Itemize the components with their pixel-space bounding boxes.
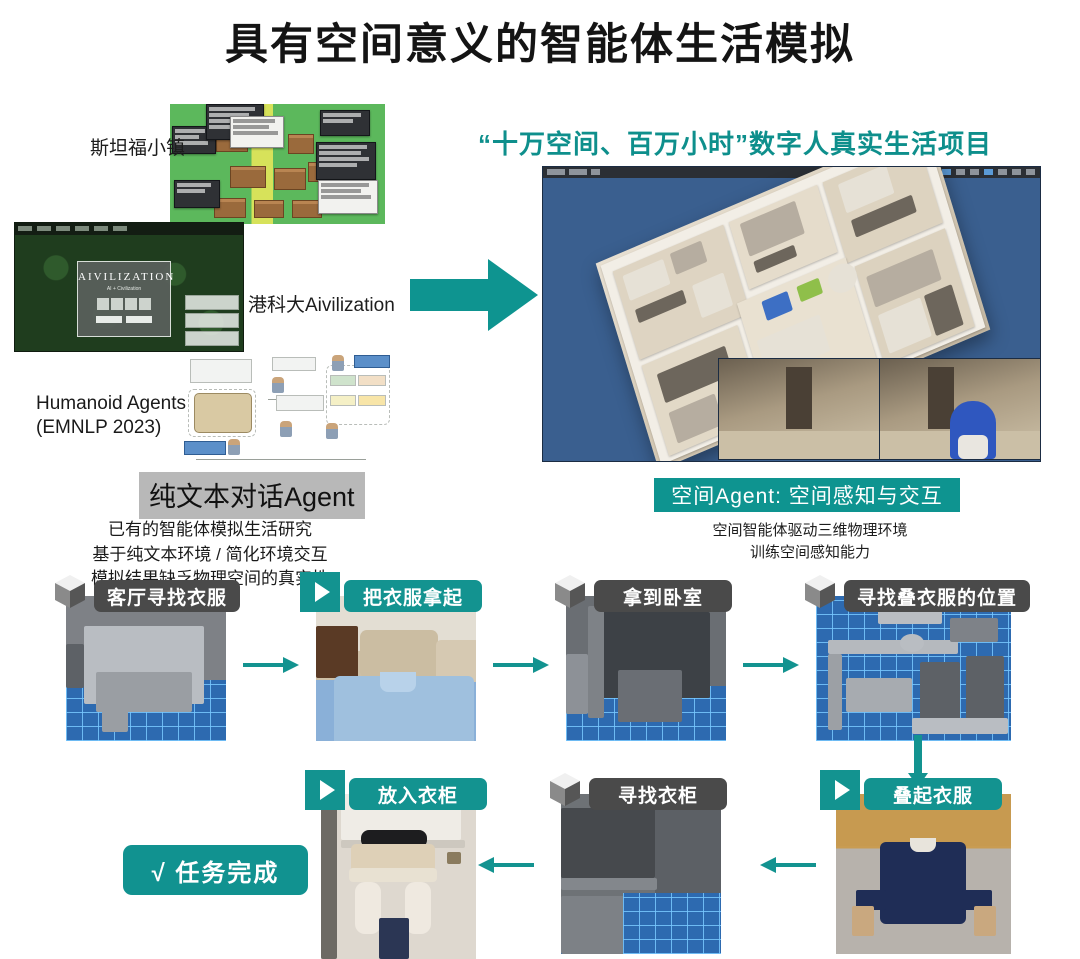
flow-step-3-label: 拿到卧室 — [594, 580, 732, 612]
aivilization-subtitle: AI + Civilization — [78, 286, 170, 292]
transition-arrow-icon — [410, 255, 540, 335]
viewer-caption-line2: 训练空间感知能力 — [600, 542, 1020, 564]
fpv-panel-right — [879, 358, 1041, 460]
flow-step-7-thumbnail — [321, 794, 476, 959]
simulator-viewer-screenshot — [542, 166, 1041, 462]
flow-step-6[interactable]: 寻找衣柜 — [545, 778, 745, 943]
play-icon — [305, 770, 345, 810]
stanford-town-thumbnail — [170, 104, 385, 224]
cube-icon — [545, 770, 585, 810]
flow-step-6-label: 寻找衣柜 — [589, 778, 727, 810]
aivilization-label: 港科大Aivilization — [248, 290, 395, 317]
flow-arrow-2-3-icon — [493, 655, 549, 680]
aivilization-brand: AIVILIZATION — [78, 271, 170, 283]
stanford-town-label: 斯坦福小镇 — [90, 133, 185, 160]
flow-step-1-thumbnail — [66, 596, 226, 741]
viewer-caption: 空间智能体驱动三维物理环境 训练空间感知能力 — [600, 520, 1020, 564]
aivilization-topbar — [15, 223, 243, 235]
flow-step-4-label: 寻找叠衣服的位置 — [844, 580, 1030, 612]
flow-step-5-label: 叠起衣服 — [864, 778, 1002, 810]
flow-step-4-thumbnail — [816, 596, 1011, 741]
flow-step-5-thumbnail — [836, 794, 1011, 954]
cube-icon — [800, 572, 840, 612]
aivilization-thumbnail: AIVILIZATION AI + Civilization — [14, 222, 244, 352]
flow-step-5[interactable]: 叠起衣服 — [820, 778, 1030, 943]
play-icon — [300, 572, 340, 612]
aivilization-modal: AIVILIZATION AI + Civilization — [77, 261, 171, 337]
agent-avatar — [950, 401, 996, 459]
cube-icon — [50, 572, 90, 612]
task-complete-badge: √ 任务完成 — [123, 845, 308, 895]
play-icon — [820, 770, 860, 810]
flow-arrow-3-4-icon — [743, 655, 799, 680]
viewer-toolbar — [543, 167, 1040, 178]
fpv-panel-left — [718, 358, 880, 460]
text-agent-tag: 纯文本对话Agent — [139, 472, 365, 519]
flow-step-2-label: 把衣服拿起 — [344, 580, 482, 612]
flow-arrow-1-2-icon — [243, 655, 299, 680]
flow-step-7-label: 放入衣柜 — [349, 778, 487, 810]
cube-icon — [550, 572, 590, 612]
humanoid-agents-label-line2: (EMNLP 2023) — [36, 416, 216, 440]
humanoid-agents-label-line1: Humanoid Agents — [36, 392, 216, 416]
left-caption-line1: 已有的智能体模拟生活研究 — [0, 518, 420, 543]
spatial-project-heading: “十万空间、百万小时”数字人真实生活项目 — [478, 124, 1078, 161]
page-title: 具有空间意义的智能体生活模拟 — [0, 22, 1080, 69]
flow-step-3[interactable]: 拿到卧室 — [550, 580, 750, 745]
flow-step-1[interactable]: 客厅寻找衣服 — [50, 580, 250, 745]
flow-arrow-5-6-icon — [760, 855, 816, 880]
viewer-caption-line1: 空间智能体驱动三维物理环境 — [600, 520, 1020, 542]
flow-step-7[interactable]: 放入衣柜 — [305, 778, 505, 948]
flow-step-3-thumbnail — [566, 596, 726, 741]
spatial-agent-banner: 空间Agent: 空间感知与交互 — [654, 478, 960, 512]
flow-step-1-label: 客厅寻找衣服 — [94, 580, 240, 612]
humanoid-agents-label: Humanoid Agents (EMNLP 2023) — [36, 392, 216, 440]
flow-step-2-thumbnail — [316, 596, 476, 741]
flow-step-6-thumbnail — [561, 794, 721, 954]
flow-step-2[interactable]: 把衣服拿起 — [300, 580, 500, 745]
flow-step-4[interactable]: 寻找叠衣服的位置 — [800, 580, 1030, 745]
left-caption-line2: 基于纯文本环境 / 简化环境交互 — [0, 543, 420, 568]
